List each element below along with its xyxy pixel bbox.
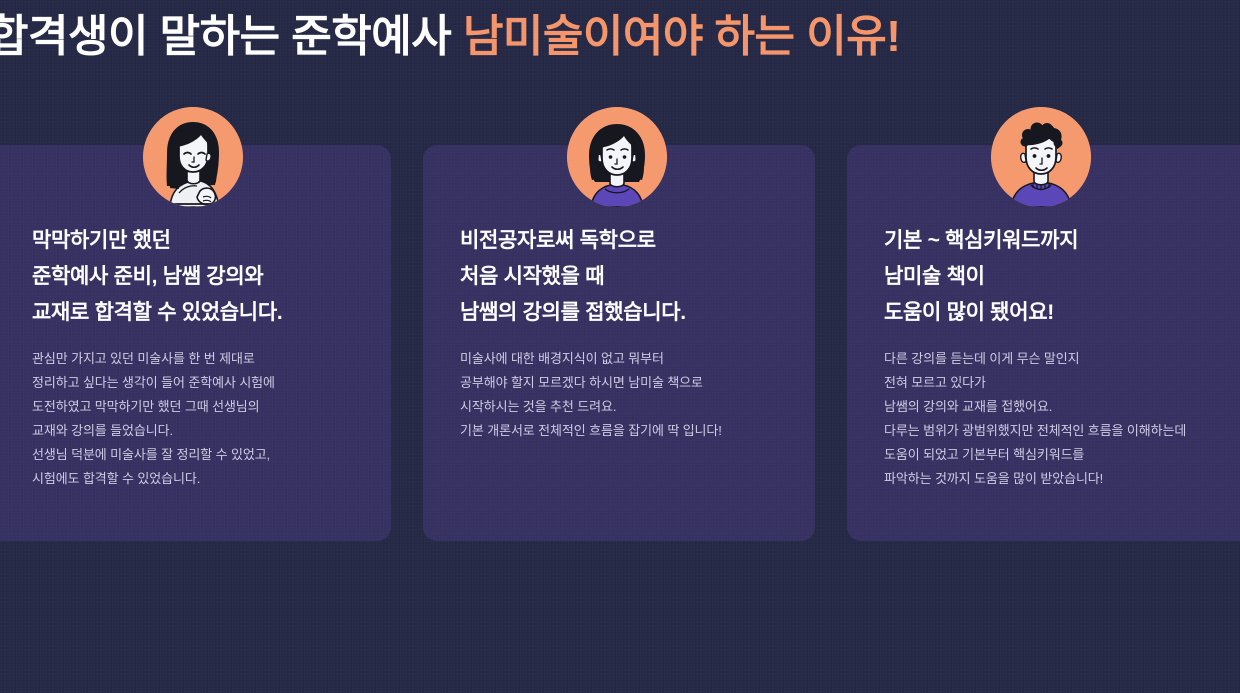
testimonial-body: 다른 강의를 듣는데 이게 무슨 말인지 전혀 모르고 있다가 남쌤의 강의와 …: [884, 347, 1240, 491]
woman-long-hair-avatar: [143, 107, 243, 207]
man-curly-hair-avatar: [991, 107, 1091, 207]
testimonial-body: 관심만 가지고 있던 미술사를 한 번 제대로 정리하고 싶다는 생각이 들어 …: [32, 347, 375, 491]
page-title-plain: 합격생이 말하는 준학예사: [0, 12, 463, 61]
testimonial-heading: 막막하기만 했던 준학예사 준비, 남쌤 강의와 교재로 합격할 수 있었습니다…: [32, 223, 375, 331]
page-title: 합격생이 말하는 준학예사 남미술이여야 하는 이유!: [0, 15, 1240, 59]
testimonial-heading: 비전공자로써 독학으로 처음 시작했을 때 남쌤의 강의를 접했습니다.: [460, 223, 799, 331]
woman-bob-hair-avatar: [567, 107, 667, 207]
testimonial-section: 합격생이 말하는 준학예사 남미술이여야 하는 이유! 막막하기만 했던 준학예…: [0, 0, 1240, 693]
testimonial-heading: 기본 ~ 핵심키워드까지 남미술 책이 도움이 많이 됐어요!: [884, 223, 1240, 331]
page-title-accent: 남미술이여야 하는 이유!: [463, 12, 900, 61]
testimonial-card-content: 기본 ~ 핵심키워드까지 남미술 책이 도움이 많이 됐어요! 다른 강의를 듣…: [884, 145, 1240, 541]
testimonial-body: 미술사에 대한 배경지식이 없고 뭐부터 공부해야 할지 모르겠다 하시면 남미…: [460, 347, 799, 443]
